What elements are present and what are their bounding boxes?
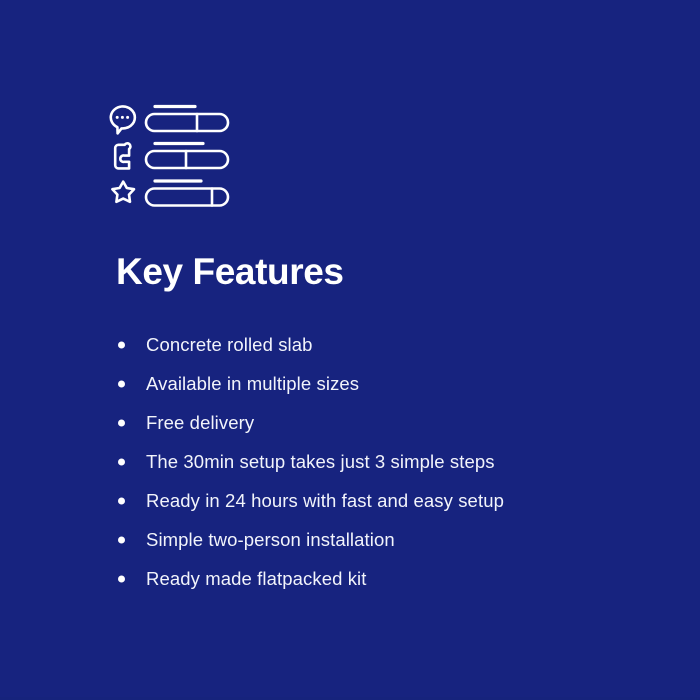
bullet-icon bbox=[118, 536, 125, 543]
list-item-label: Free delivery bbox=[146, 412, 254, 434]
list-item-label: Ready made flatpacked kit bbox=[146, 568, 367, 590]
list-item-label: The 30min setup takes just 3 simple step… bbox=[146, 451, 495, 473]
key-features-slide: Key Features Concrete rolled slab Availa… bbox=[0, 0, 700, 700]
puzzle-piece-icon bbox=[115, 143, 130, 168]
bullet-icon bbox=[118, 497, 125, 504]
list-item: Simple two-person installation bbox=[116, 520, 636, 559]
list-item: Ready made flatpacked kit bbox=[116, 559, 636, 598]
list-item: The 30min setup takes just 3 simple step… bbox=[116, 442, 636, 481]
list-item: Concrete rolled slab bbox=[116, 325, 636, 364]
page-title: Key Features bbox=[116, 252, 344, 293]
list-item-label: Available in multiple sizes bbox=[146, 373, 359, 395]
list-item: Free delivery bbox=[116, 403, 636, 442]
bullet-icon bbox=[118, 575, 125, 582]
star-icon bbox=[112, 182, 134, 202]
bullet-icon bbox=[118, 380, 125, 387]
list-item: Ready in 24 hours with fast and easy set… bbox=[116, 481, 636, 520]
feature-list: Concrete rolled slab Available in multip… bbox=[116, 325, 636, 598]
progress-bar-3 bbox=[146, 189, 228, 206]
list-item-label: Simple two-person installation bbox=[146, 529, 395, 551]
bullet-icon bbox=[118, 419, 125, 426]
list-item-label: Ready in 24 hours with fast and easy set… bbox=[146, 490, 504, 512]
list-item: Available in multiple sizes bbox=[116, 364, 636, 403]
key-features-icon bbox=[108, 100, 230, 210]
bullet-icon bbox=[118, 341, 125, 348]
speech-bubble-dots-icon bbox=[111, 106, 135, 133]
bullet-icon bbox=[118, 458, 125, 465]
progress-bar-2 bbox=[146, 151, 228, 168]
progress-bar-1 bbox=[146, 114, 228, 131]
list-item-label: Concrete rolled slab bbox=[146, 334, 313, 356]
